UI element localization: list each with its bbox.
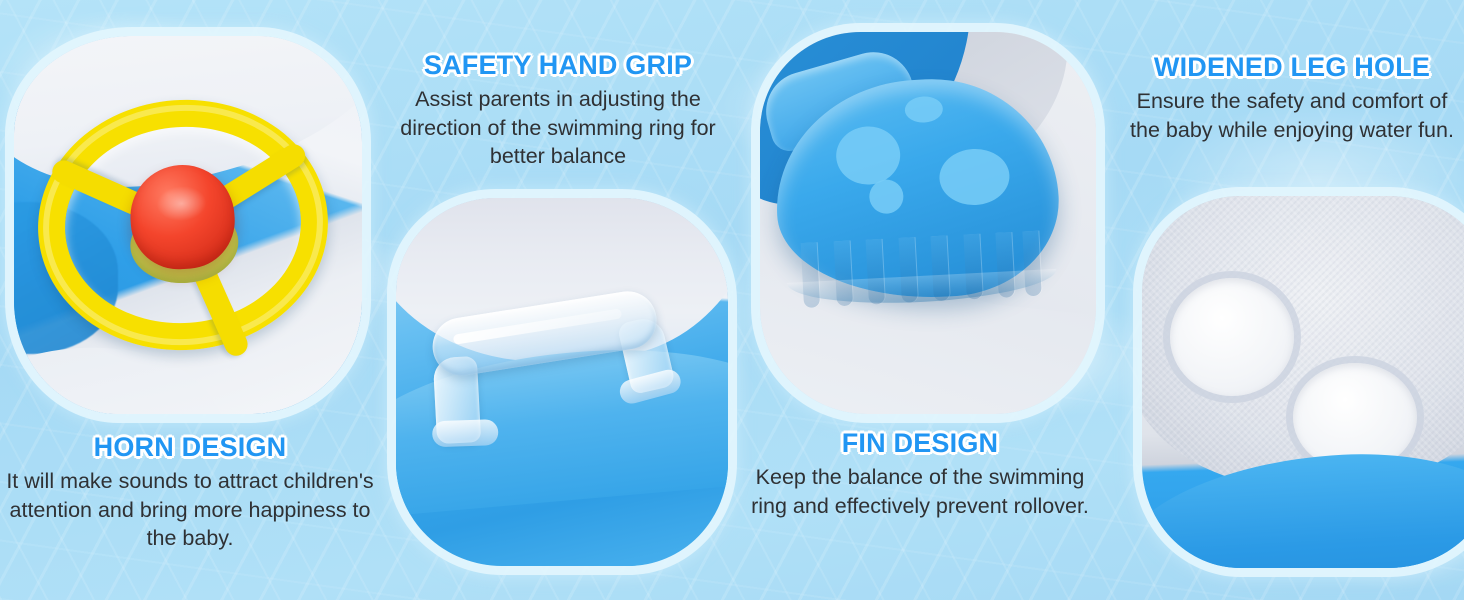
panel-body-text: Assist parents in adjusting the directio…	[388, 85, 728, 171]
photo-frame-horn-design	[14, 36, 362, 414]
caption-safety-hand-grip: SAFETY HAND GRIP Assist parents in adjus…	[388, 50, 728, 171]
caption-widened-leg-hole: WIDENED LEG HOLE Ensure the safety and c…	[1122, 52, 1462, 144]
infographic-canvas: HORN DESIGN It will make sounds to attra…	[0, 0, 1464, 600]
caption-horn-design: HORN DESIGN It will make sounds to attra…	[0, 432, 380, 553]
fin-spot	[938, 147, 1011, 207]
panel-body-text: It will make sounds to attract children'…	[0, 467, 380, 553]
photo-fin-design	[760, 32, 1096, 414]
photo-safety-hand-grip	[396, 198, 728, 566]
steering-wheel-graphic	[30, 90, 337, 360]
photo-frame-widened-leg-hole	[1142, 196, 1464, 568]
panel-body-text: Ensure the safety and comfort of the bab…	[1122, 87, 1462, 144]
leg-hole	[1170, 278, 1294, 396]
photo-widened-leg-hole	[1142, 196, 1464, 568]
inflatable-ring-surface	[1142, 446, 1464, 568]
fin-spot	[835, 124, 902, 185]
panel-heading: HORN DESIGN	[0, 432, 380, 462]
fin-rib	[801, 242, 820, 308]
photo-frame-safety-hand-grip	[396, 198, 728, 566]
photo-frame-fin-design	[760, 32, 1096, 414]
photo-horn-design	[14, 36, 362, 414]
grip-base-left	[432, 419, 499, 447]
fin-spot	[869, 179, 905, 215]
fin-spot	[904, 96, 943, 124]
panel-body-text: Keep the balance of the swimming ring an…	[748, 463, 1092, 520]
caption-fin-design: FIN DESIGN Keep the balance of the swimm…	[748, 428, 1092, 520]
panel-heading: WIDENED LEG HOLE	[1122, 52, 1462, 82]
panel-heading: SAFETY HAND GRIP	[388, 50, 728, 80]
panel-heading: FIN DESIGN	[748, 428, 1092, 458]
